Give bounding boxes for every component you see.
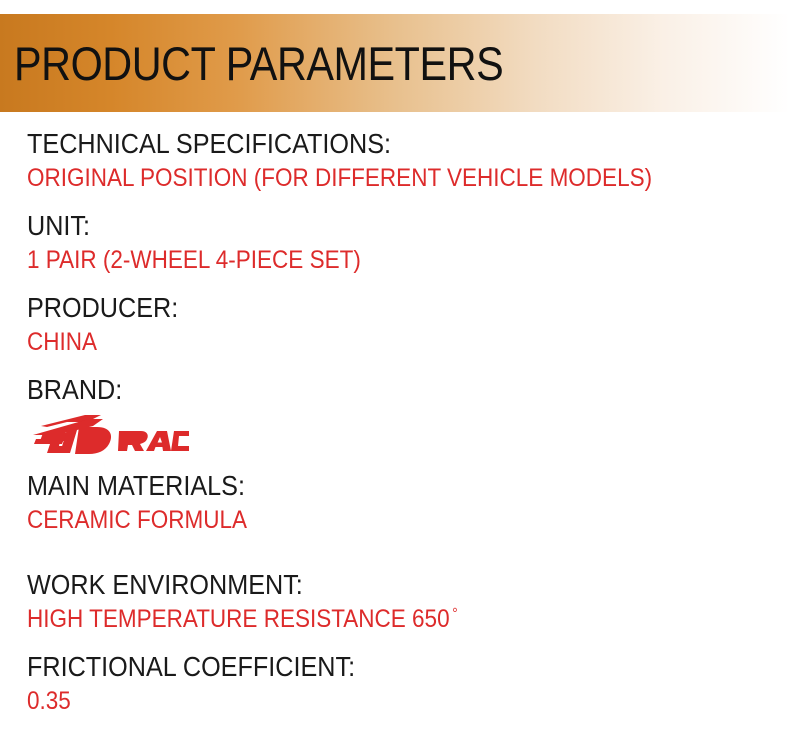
spec-row-producer: PRODUCER: CHINA <box>27 290 767 359</box>
spec-label-technical-specifications: TECHNICAL SPECIFICATIONS: <box>27 126 693 162</box>
spec-row-unit: UNIT: 1 PAIR (2-WHEEL 4-PIECE SET) <box>27 208 767 277</box>
spec-row-technical-specifications: TECHNICAL SPECIFICATIONS: ORIGINAL POSIT… <box>27 126 767 195</box>
spec-row-work-environment: WORK ENVIRONMENT: HIGH TEMPERATURE RESIS… <box>27 567 767 636</box>
spec-value-unit: 1 PAIR (2-WHEEL 4-PIECE SET) <box>27 244 693 277</box>
spec-value-producer: CHINA <box>27 326 693 359</box>
spec-label-producer: PRODUCER: <box>27 290 693 326</box>
degree-symbol-icon: ° <box>450 605 458 622</box>
spec-label-frictional-coefficient: FRICTIONAL COEFFICIENT: <box>27 649 693 685</box>
spec-value-frictional-coefficient: 0.35 <box>27 685 693 718</box>
header-banner: PRODUCT PARAMETERS <box>0 14 790 112</box>
spec-row-brand: BRAND: FD RACING <box>27 372 767 455</box>
product-parameters-page: PRODUCT PARAMETERS TECHNICAL SPECIFICATI… <box>0 0 790 753</box>
spec-value-work-environment-text: HIGH TEMPERATURE RESISTANCE 650 <box>27 605 450 633</box>
spec-label-main-materials: MAIN MATERIALS: <box>27 468 693 504</box>
spec-row-frictional-coefficient: FRICTIONAL COEFFICIENT: 0.35 <box>27 649 767 718</box>
spec-value-technical-specifications: ORIGINAL POSITION (FOR DIFFERENT VEHICLE… <box>27 162 693 195</box>
spec-label-unit: UNIT: <box>27 208 693 244</box>
spec-value-main-materials: CERAMIC FORMULA <box>27 504 693 537</box>
spec-label-brand: BRAND: <box>27 372 693 408</box>
spec-row-main-materials: MAIN MATERIALS: CERAMIC FORMULA <box>27 468 767 537</box>
spec-value-work-environment: HIGH TEMPERATURE RESISTANCE 650° <box>27 603 693 636</box>
spec-label-work-environment: WORK ENVIRONMENT: <box>27 567 693 603</box>
page-title: PRODUCT PARAMETERS <box>14 40 503 87</box>
fd-racing-logo-icon: FD RACING <box>27 413 189 455</box>
specifications-list: TECHNICAL SPECIFICATIONS: ORIGINAL POSIT… <box>27 126 767 718</box>
